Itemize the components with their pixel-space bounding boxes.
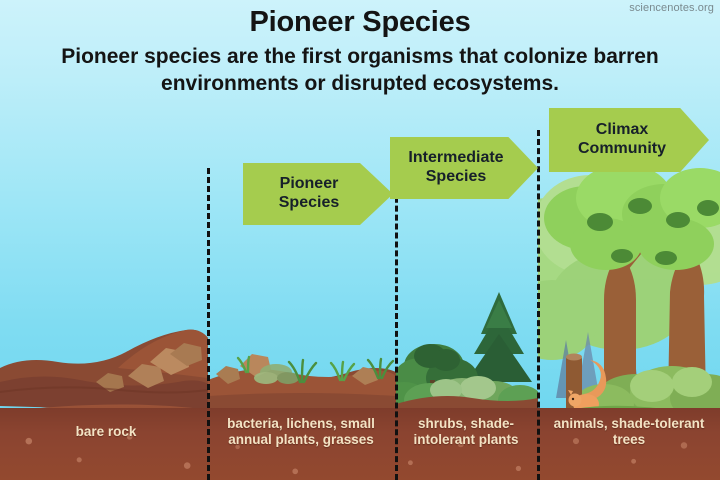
caption-intermediate-species: shrubs, shade-intolerant plants — [399, 416, 533, 449]
caption-climax-community: animals, shade-tolerant trees — [541, 416, 717, 449]
banner-intermediate-species: Intermediate Species — [390, 137, 538, 199]
scene-pioneer-species — [208, 354, 396, 396]
page-subtitle: Pioneer species are the first organisms … — [14, 44, 706, 98]
caption-pioneer-species: bacteria, lichens, small annual plants, … — [211, 416, 391, 449]
banner-pioneer-line2: Species — [279, 194, 339, 211]
page-title: Pioneer Species — [0, 6, 720, 39]
banner-pioneer-line1: Pioneer — [280, 175, 339, 192]
stage-divider-3 — [537, 130, 540, 480]
banner-intermediate-line2: Species — [426, 168, 486, 185]
infographic-canvas: Pioneer Species Intermediate Species Cli… — [0, 0, 720, 480]
banner-climax-line2: Community — [578, 140, 666, 157]
caption-bare-rock: bare rock — [8, 424, 204, 440]
stage-divider-1 — [207, 168, 210, 480]
banner-intermediate-line1: Intermediate — [408, 149, 503, 166]
banner-climax-community: Climax Community — [549, 108, 709, 172]
stage-divider-2 — [395, 152, 398, 480]
banner-climax-line1: Climax — [596, 121, 648, 138]
